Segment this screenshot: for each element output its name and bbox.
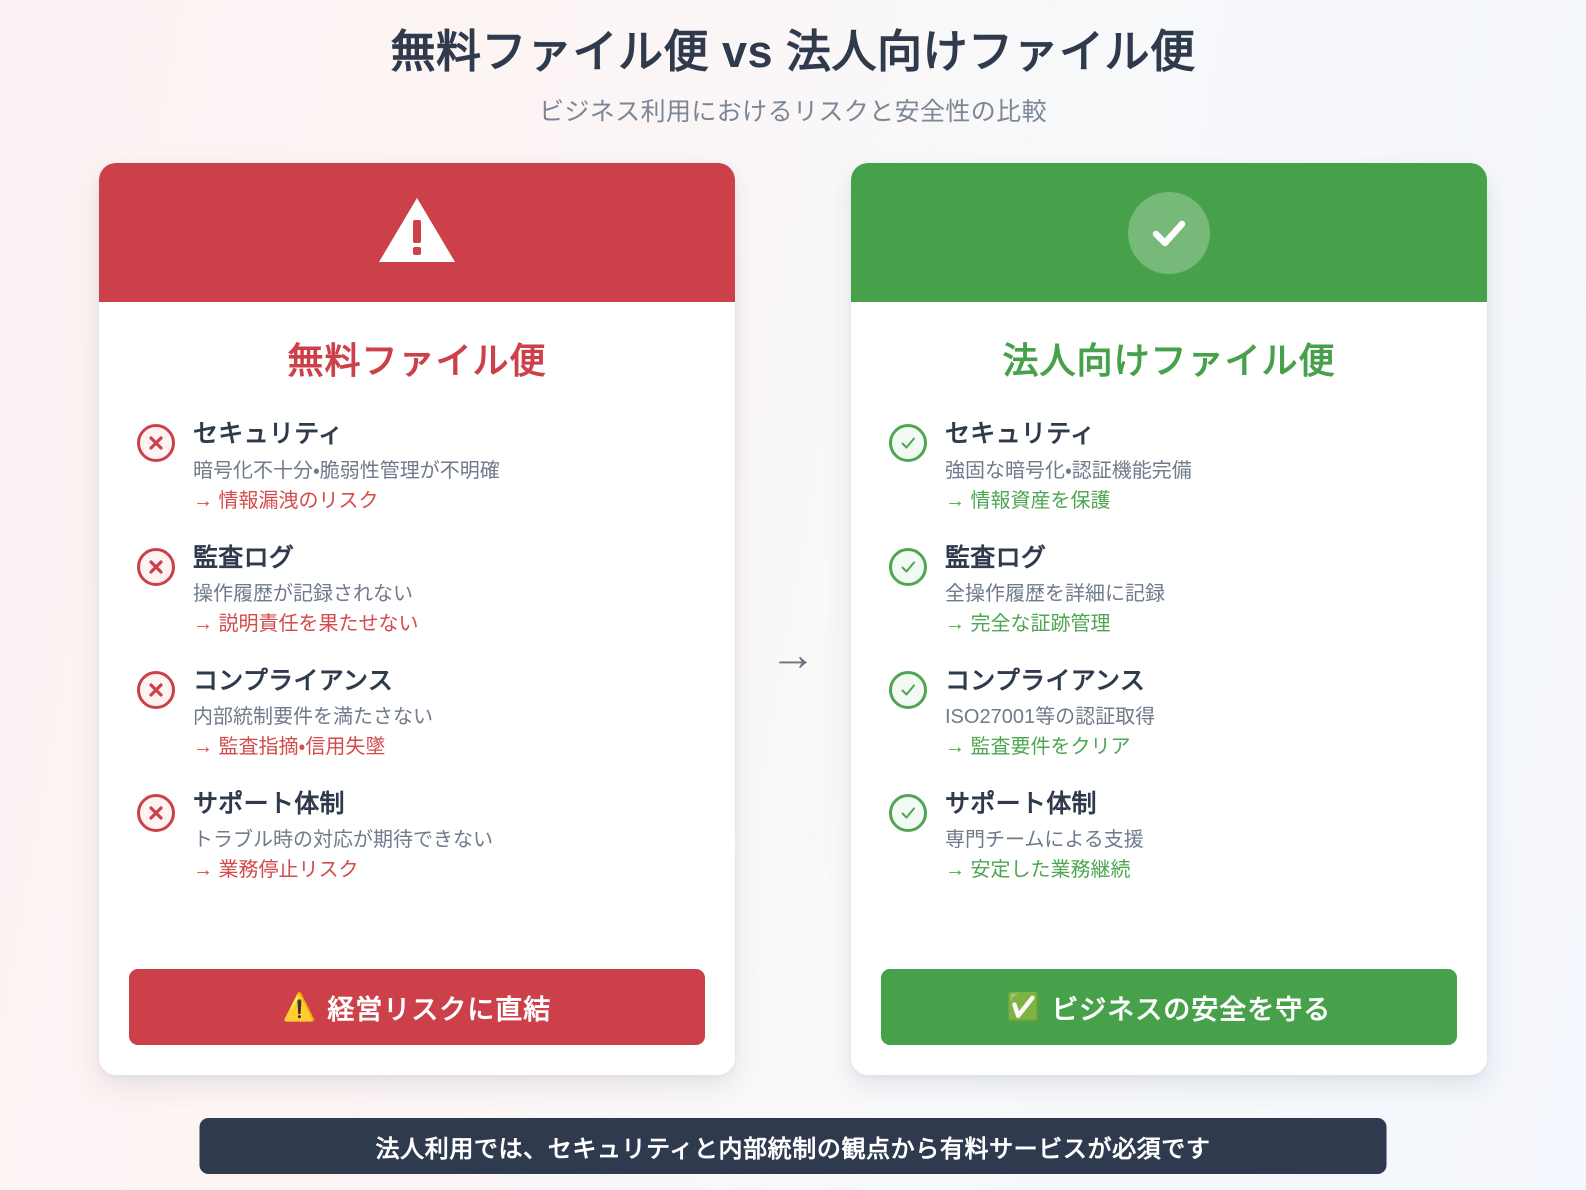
list-item: コンプライアンス 内部統制要件を満たさない → 監査指摘・信用失墜: [129, 666, 705, 761]
feature-note: → 業務停止リスク: [193, 857, 493, 884]
comparison-area: 無料ファイル便 セキュリティ 暗号化不十分・脆弱性管理が不明確 → 情報漏洩のリ…: [0, 163, 1586, 1075]
feature-note: → 監査要件をクリア: [945, 734, 1155, 761]
list-item: 監査ログ 全操作履歴を詳細に記録 → 完全な証跡管理: [881, 543, 1457, 638]
card-banner-risk: [99, 163, 735, 302]
footer-banner: 法人利用では、セキュリティと内部統制の観点から有料サービスが必須です: [200, 1118, 1387, 1174]
feature-desc: 操作履歴が記録されない: [193, 581, 419, 607]
safe-cta-button[interactable]: ✅ ビジネスの安全を守る: [881, 969, 1457, 1045]
feature-desc: 内部統制要件を満たさない: [193, 704, 433, 730]
feature-list-free: セキュリティ 暗号化不十分・脆弱性管理が不明確 → 情報漏洩のリスク 監査ログ …: [129, 419, 705, 969]
x-circle-icon: [137, 548, 175, 586]
feature-title: セキュリティ: [945, 419, 1192, 450]
list-item: セキュリティ 強固な暗号化・認証機能完備 → 情報資産を保護: [881, 419, 1457, 514]
check-circle-icon: [889, 424, 927, 462]
risk-cta-label: 経営リスクに直結: [327, 988, 551, 1027]
list-item: 監査ログ 操作履歴が記録されない → 説明責任を果たせない: [129, 543, 705, 638]
check-mark-box-icon: ✅: [1007, 991, 1042, 1023]
check-circle-icon: [1128, 192, 1210, 274]
feature-text: 監査ログ 全操作履歴を詳細に記録 → 完全な証跡管理: [945, 543, 1165, 638]
list-item: サポート体制 専門チームによる支援 → 安定した業務継続: [881, 789, 1457, 884]
warning-sign-icon: ⚠️: [283, 991, 318, 1023]
check-circle-icon: [889, 671, 927, 709]
feature-note: → 情報漏洩のリスク: [193, 488, 500, 515]
feature-note: → 説明責任を果たせない: [193, 611, 419, 638]
x-circle-icon: [137, 794, 175, 832]
card-body-free: 無料ファイル便 セキュリティ 暗号化不十分・脆弱性管理が不明確 → 情報漏洩のリ…: [99, 302, 735, 1075]
feature-desc: 暗号化不十分・脆弱性管理が不明確: [193, 458, 500, 484]
check-circle-icon: [889, 548, 927, 586]
feature-desc: 専門チームによる支援: [945, 827, 1144, 853]
list-item: コンプライアンス ISO27001等の認証取得 → 監査要件をクリア: [881, 666, 1457, 761]
feature-title: セキュリティ: [193, 419, 500, 450]
card-banner-safe: [851, 163, 1487, 302]
feature-note: → 情報資産を保護: [945, 488, 1192, 515]
card-free-file-service: 無料ファイル便 セキュリティ 暗号化不十分・脆弱性管理が不明確 → 情報漏洩のリ…: [99, 163, 735, 1075]
feature-text: サポート体制 専門チームによる支援 → 安定した業務継続: [945, 789, 1144, 884]
feature-desc: トラブル時の対応が期待できない: [193, 827, 493, 853]
feature-title: コンプライアンス: [193, 666, 433, 697]
x-circle-icon: [137, 424, 175, 462]
feature-desc: ISO27001等の認証取得: [945, 704, 1155, 730]
feature-desc: 強固な暗号化・認証機能完備: [945, 458, 1192, 484]
page-header: 無料ファイル便 vs 法人向けファイル便 ビジネス利用におけるリスクと安全性の比…: [0, 0, 1586, 128]
footer-message: 法人利用では、セキュリティと内部統制の観点から有料サービスが必須です: [376, 1129, 1211, 1164]
arrow-right-icon: →: [770, 631, 816, 677]
feature-title: サポート体制: [945, 789, 1144, 820]
feature-title: 監査ログ: [193, 543, 419, 574]
feature-text: サポート体制 トラブル時の対応が期待できない → 業務停止リスク: [193, 789, 493, 884]
feature-list-business: セキュリティ 強固な暗号化・認証機能完備 → 情報資産を保護 監査ログ 全操作履…: [881, 419, 1457, 969]
feature-note: → 安定した業務継続: [945, 857, 1144, 884]
card-business-file-service: 法人向けファイル便 セキュリティ 強固な暗号化・認証機能完備 → 情報資産を保護: [851, 163, 1487, 1075]
safe-cta-label: ビジネスの安全を守る: [1051, 988, 1331, 1027]
feature-text: コンプライアンス ISO27001等の認証取得 → 監査要件をクリア: [945, 666, 1155, 761]
feature-note: → 監査指摘・信用失墜: [193, 734, 433, 761]
feature-title: サポート体制: [193, 789, 493, 820]
feature-text: 監査ログ 操作履歴が記録されない → 説明責任を果たせない: [193, 543, 419, 638]
list-item: セキュリティ 暗号化不十分・脆弱性管理が不明確 → 情報漏洩のリスク: [129, 419, 705, 514]
page-subtitle: ビジネス利用におけるリスクと安全性の比較: [0, 92, 1586, 128]
x-circle-icon: [137, 671, 175, 709]
list-item: サポート体制 トラブル時の対応が期待できない → 業務停止リスク: [129, 789, 705, 884]
feature-note: → 完全な証跡管理: [945, 611, 1165, 638]
card-body-business: 法人向けファイル便 セキュリティ 強固な暗号化・認証機能完備 → 情報資産を保護: [851, 302, 1487, 1075]
card-heading-free: 無料ファイル便: [129, 332, 705, 384]
card-heading-business: 法人向けファイル便: [881, 332, 1457, 384]
feature-title: 監査ログ: [945, 543, 1165, 574]
feature-text: コンプライアンス 内部統制要件を満たさない → 監査指摘・信用失墜: [193, 666, 433, 761]
page-title: 無料ファイル便 vs 法人向けファイル便: [0, 24, 1586, 80]
feature-desc: 全操作履歴を詳細に記録: [945, 581, 1165, 607]
warning-triangle-icon: [378, 196, 456, 269]
feature-text: セキュリティ 強固な暗号化・認証機能完備 → 情報資産を保護: [945, 419, 1192, 514]
check-circle-icon: [889, 794, 927, 832]
feature-text: セキュリティ 暗号化不十分・脆弱性管理が不明確 → 情報漏洩のリスク: [193, 419, 500, 514]
feature-title: コンプライアンス: [945, 666, 1155, 697]
risk-cta-button[interactable]: ⚠️ 経営リスクに直結: [129, 969, 705, 1045]
